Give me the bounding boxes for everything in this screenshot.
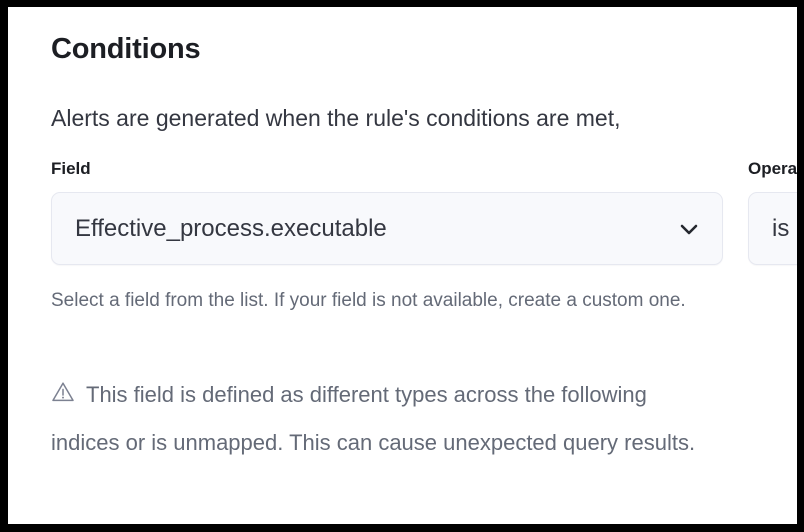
field-select-value: Effective_process.executable <box>75 214 664 244</box>
chevron-down-icon[interactable] <box>676 216 702 242</box>
page-title: Conditions <box>51 32 200 66</box>
field-group-field: Field Effective_process.executable <box>51 157 731 265</box>
operator-select[interactable]: is <box>748 192 797 265</box>
warning-text: This field is defined as different types… <box>51 382 695 455</box>
field-warning-message: This field is defined as different types… <box>51 371 711 467</box>
screenshot-frame: Conditions Alerts are generated when the… <box>0 0 804 532</box>
field-label: Field <box>51 157 731 181</box>
operator-select-value: is <box>772 214 797 244</box>
field-help-text: Select a field from the list. If your fi… <box>51 285 691 316</box>
conditions-panel: Conditions Alerts are generated when the… <box>8 7 797 524</box>
panel-content: Conditions Alerts are generated when the… <box>51 7 797 524</box>
warning-triangle-icon <box>51 380 75 404</box>
field-select[interactable]: Effective_process.executable <box>51 192 723 265</box>
field-group-operator: Opera is <box>748 157 797 265</box>
panel-description: Alerts are generated when the rule's con… <box>51 103 621 133</box>
operator-label: Opera <box>748 157 797 181</box>
